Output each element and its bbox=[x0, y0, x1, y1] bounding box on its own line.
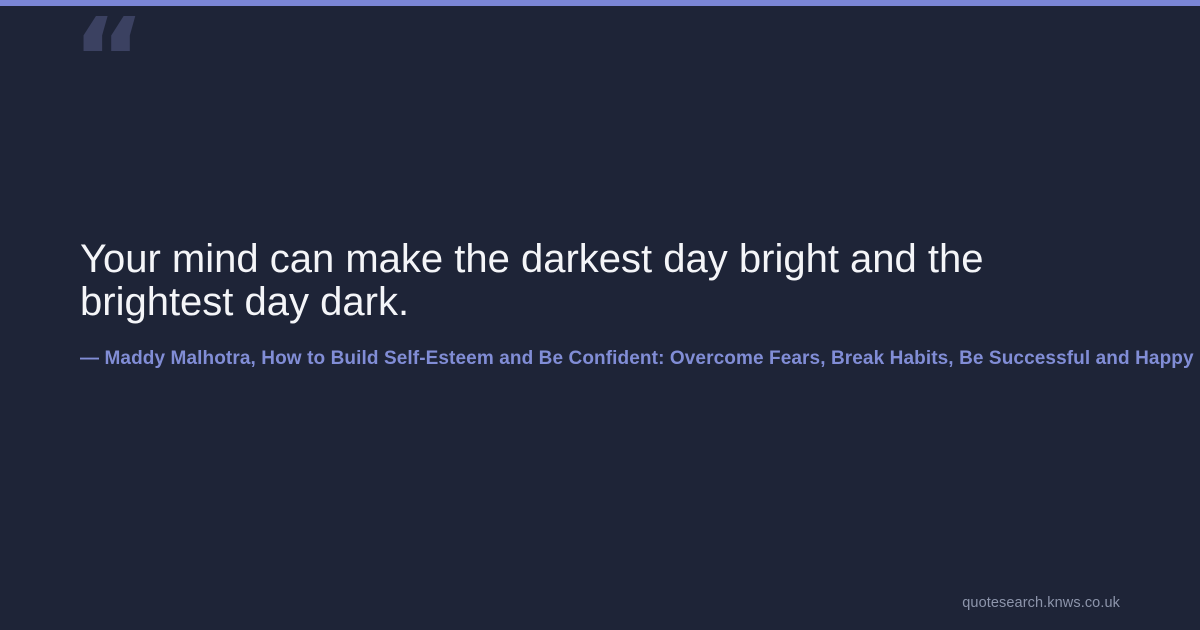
attribution-dash: — bbox=[80, 348, 99, 369]
quote-block: Your mind can make the darkest day brigh… bbox=[80, 238, 1120, 324]
attribution-line: — Maddy Malhotra, How to Build Self-Este… bbox=[80, 346, 1194, 372]
attribution-container: — Maddy Malhotra, How to Build Self-Este… bbox=[80, 346, 1200, 372]
source-url-label: quotesearch.knws.co.uk bbox=[962, 595, 1120, 611]
top-accent-bar bbox=[0, 0, 1200, 6]
attribution-source: Maddy Malhotra, How to Build Self-Esteem… bbox=[105, 348, 1194, 369]
footer: quotesearch.knws.co.uk bbox=[962, 594, 1120, 612]
quote-text: Your mind can make the darkest day brigh… bbox=[80, 238, 1120, 324]
quote-card: “ Your mind can make the darkest day bri… bbox=[0, 0, 1200, 630]
opening-quotation-mark-icon: “ bbox=[72, 4, 144, 116]
